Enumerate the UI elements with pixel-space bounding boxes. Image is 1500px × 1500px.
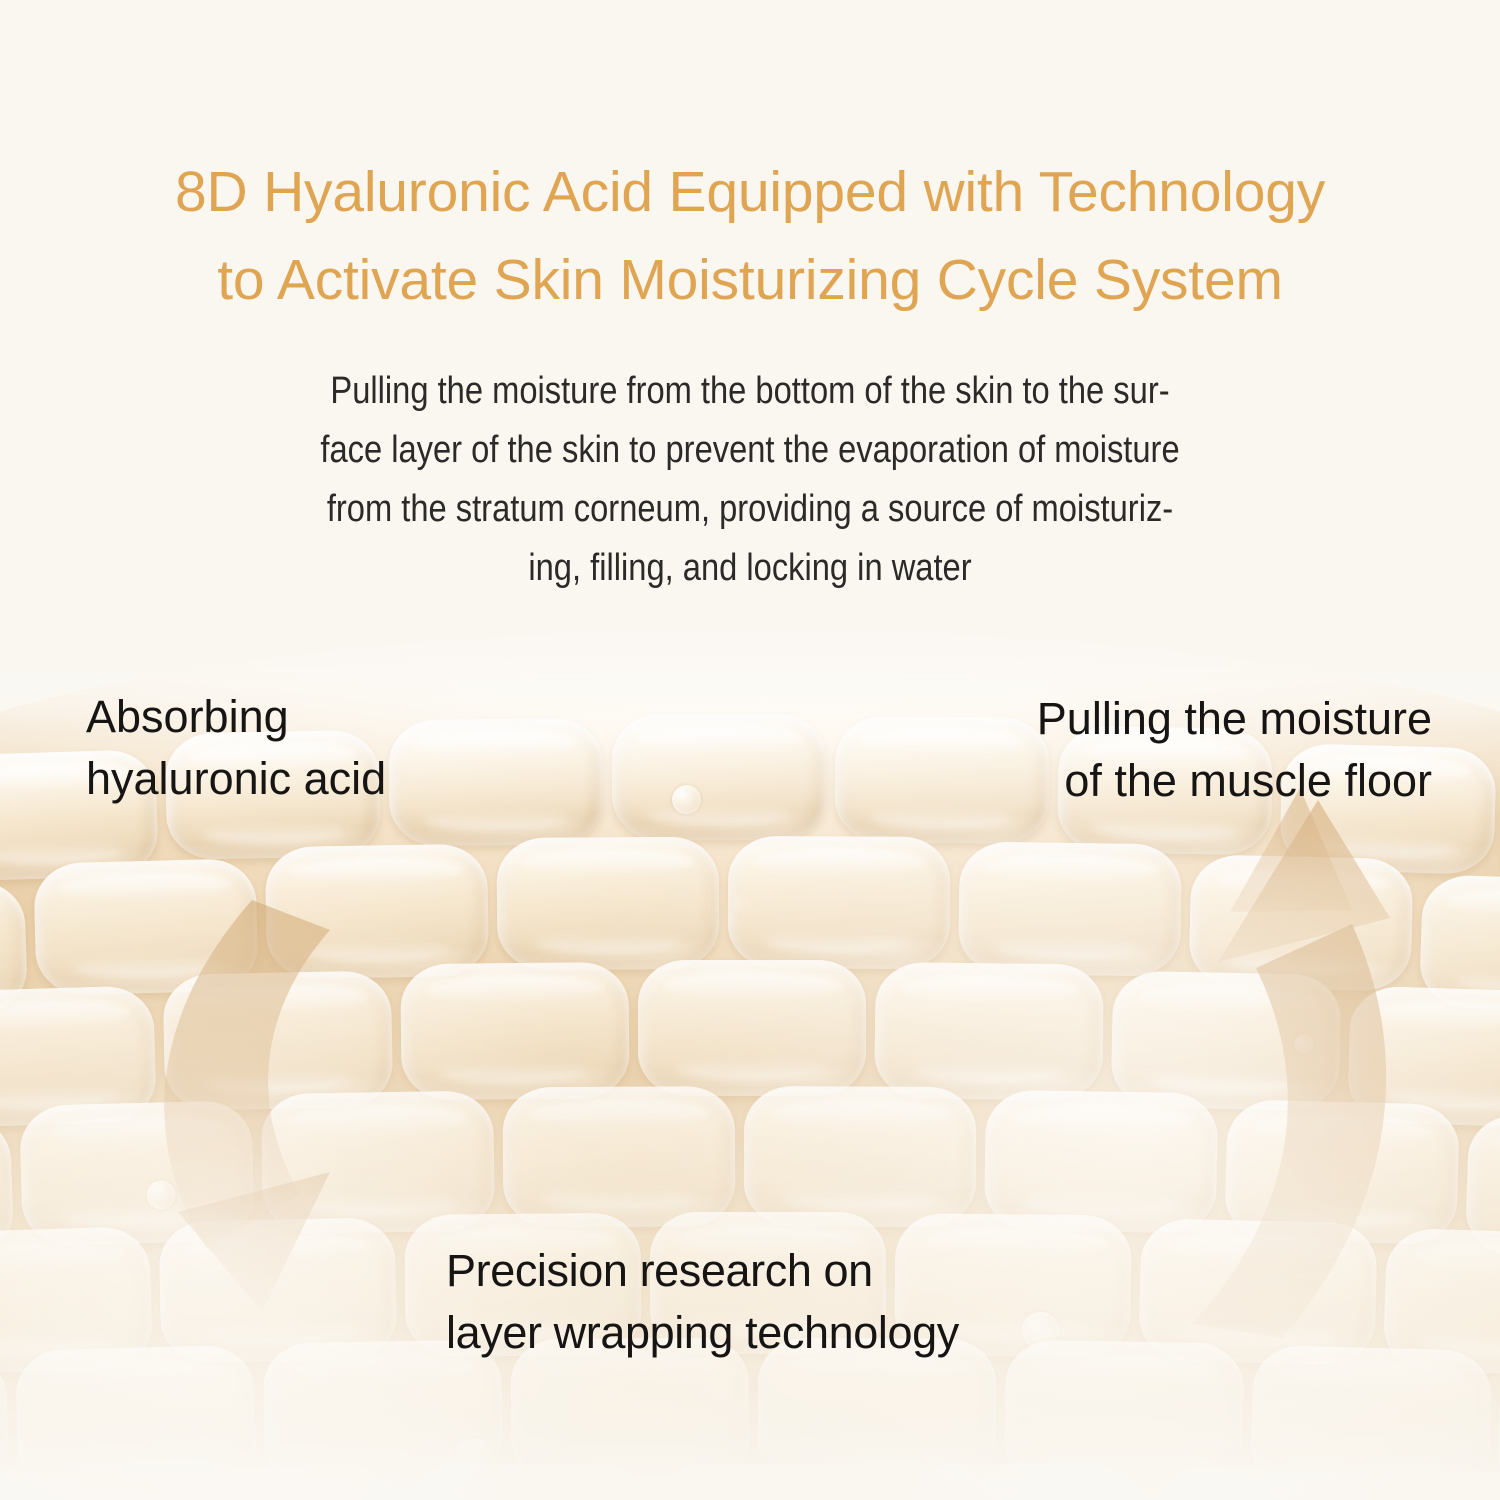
callout-pulling-line-1: Pulling the moisture [1037,688,1432,750]
capsule [0,1469,151,1500]
air-bubble [1294,1034,1314,1054]
capsule [1152,1466,1395,1500]
capsule [728,836,951,969]
capsule [874,962,1103,1100]
capsule [503,1086,736,1227]
page-title: 8D Hyaluronic Acid Equipped with Technol… [40,148,1460,324]
capsule [904,1464,1146,1500]
capsule [834,716,1049,844]
callout-precision-line-1: Precision research on [446,1240,959,1302]
capsule-row [0,1086,1500,1226]
capsule [265,844,489,979]
capsule [388,718,603,846]
callout-precision-line-2: layer wrapping technology [446,1302,959,1364]
callout-absorbing: Absorbing hyaluronic acid [86,686,386,810]
capsule [656,1464,896,1500]
page-subtitle-line-3: from the stratum corneum, providing a so… [234,480,1266,539]
header-block: 8D Hyaluronic Acid Equipped with Technol… [0,0,1500,598]
capsule [400,962,629,1100]
capsule [638,960,866,1096]
capsule [744,1086,977,1227]
page-title-line-2: to Activate Skin Moisturizing Cycle Syst… [40,236,1460,324]
callout-absorbing-line-1: Absorbing [86,686,386,748]
page-subtitle-line-2: face layer of the skin to prevent the ev… [234,421,1266,480]
capsule [497,837,720,970]
capsule-row [0,960,1500,1096]
capsule [406,1464,647,1500]
callout-absorbing-line-2: hyaluronic acid [86,748,386,810]
air-bubble [146,1180,176,1210]
page-subtitle-line-4: ing, filling, and locking in water [234,539,1266,598]
callout-pulling-moisture: Pulling the moisture of the muscle floor [1037,688,1432,812]
page-subtitle-line-1: Pulling the moisture from the bottom of … [234,362,1266,421]
promo-page: 8D Hyaluronic Acid Equipped with Technol… [0,0,1500,1500]
capsule [612,714,826,840]
page-title-line-1: 8D Hyaluronic Acid Equipped with Technol… [40,148,1460,236]
capsule-row [0,1464,1480,1500]
callout-precision-research: Precision research on layer wrapping tec… [446,1240,959,1364]
page-subtitle: Pulling the moisture from the bottom of … [234,362,1266,598]
capsule [157,1465,400,1500]
capsule [958,842,1182,977]
air-bubble [672,785,701,814]
callout-pulling-line-2: of the muscle floor [1037,750,1432,812]
capsule [1401,1470,1500,1500]
capsule-row [0,836,1500,968]
